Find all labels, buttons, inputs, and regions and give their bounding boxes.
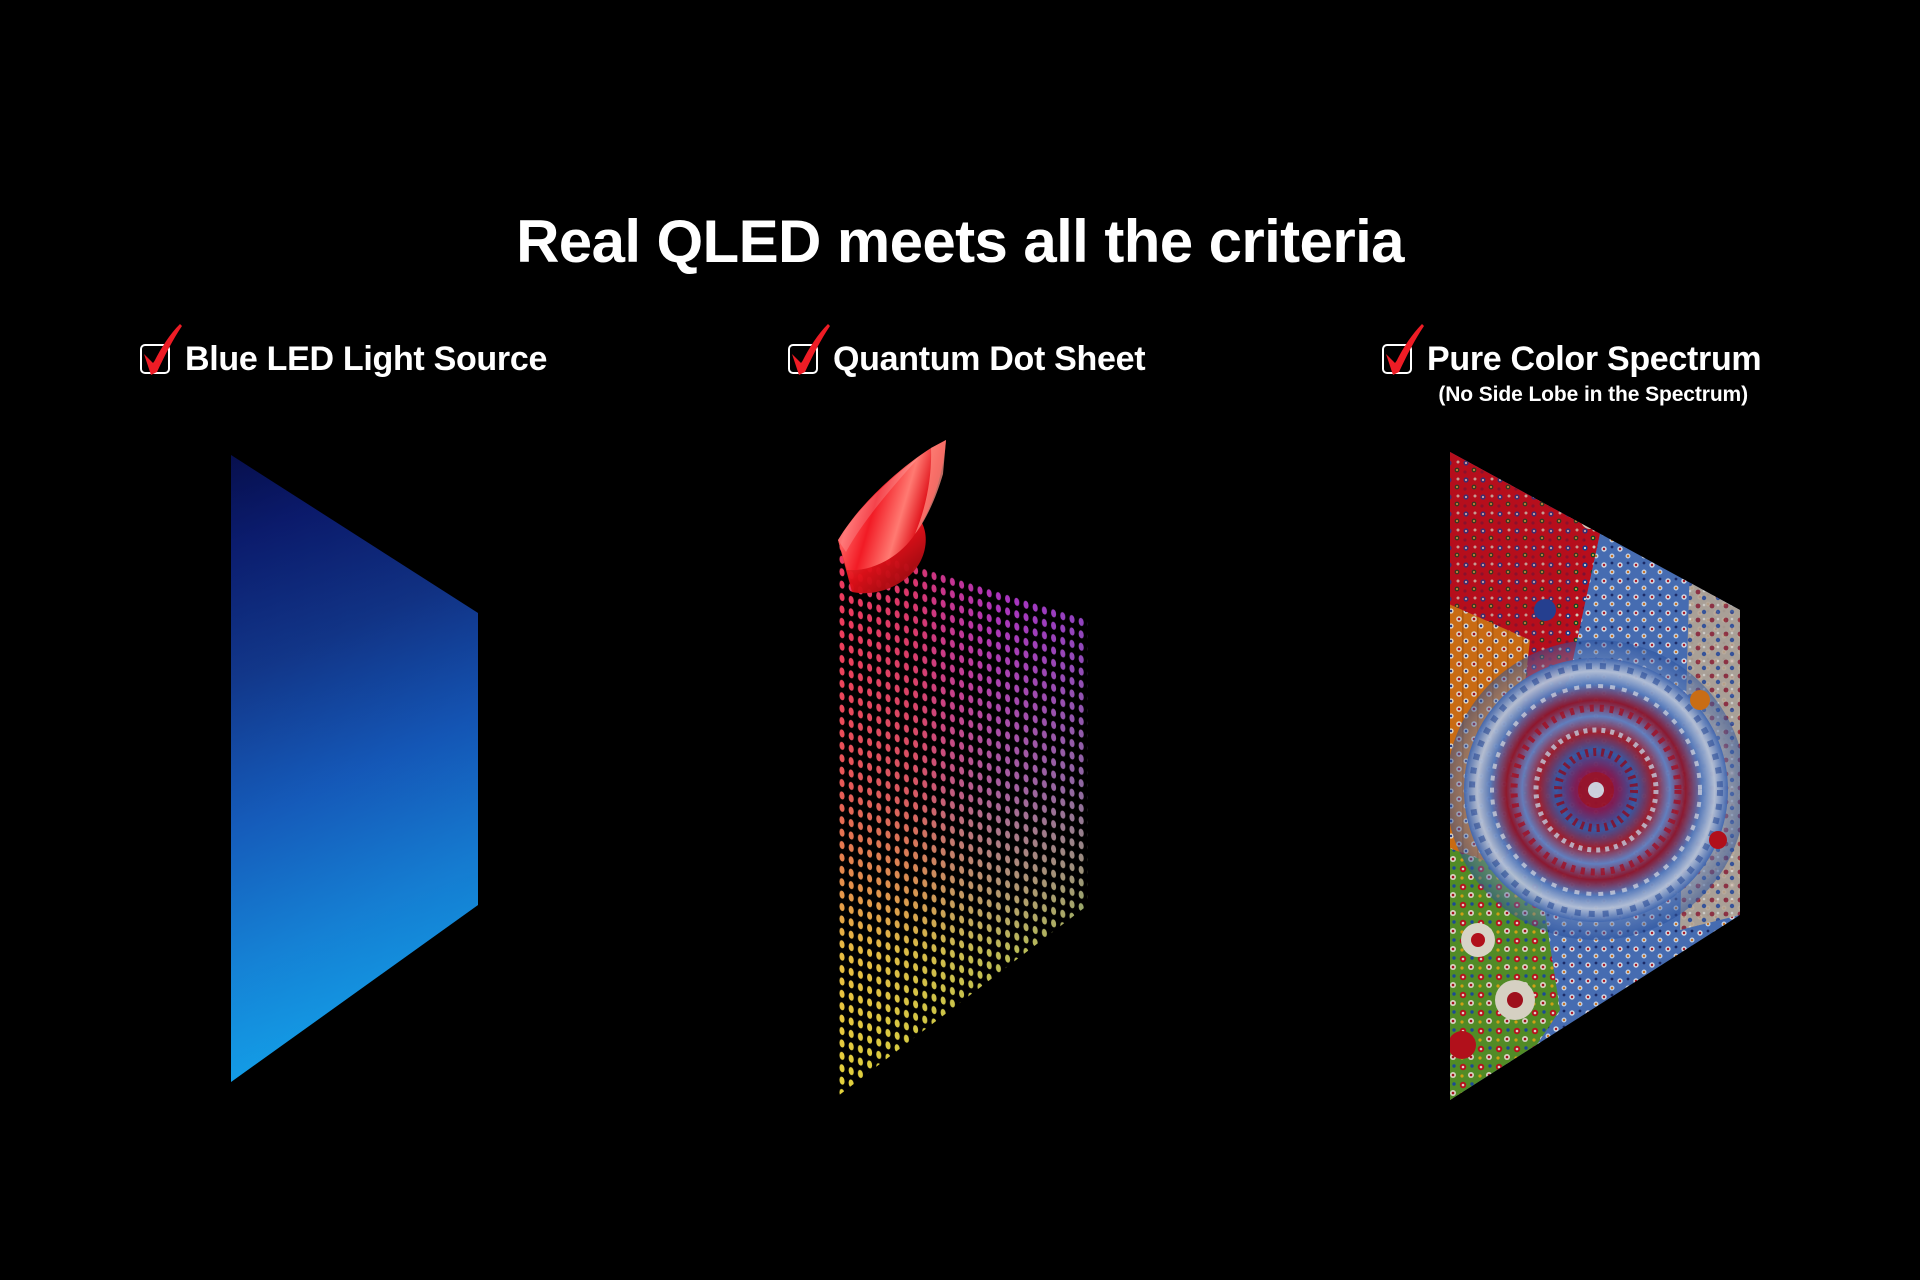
checkbox-blue-led-light-source[interactable] (140, 344, 174, 378)
checkbox-pure-color-spectrum[interactable] (1382, 344, 1416, 378)
feature-label: Pure Color Spectrum (1427, 340, 1761, 378)
red-checkmark-icon (1380, 322, 1426, 380)
feature-sublabel: (No Side Lobe in the Spectrum) (1427, 383, 1761, 407)
pure-color-textile-illustration (0, 0, 1920, 1280)
feature-label: Quantum Dot Sheet (833, 340, 1145, 378)
page-title: Real QLED meets all the criteria (0, 210, 1920, 273)
quantum-dot-sheet-illustration (0, 0, 1920, 1280)
feature-pure-color-spectrum: Pure Color Spectrum (No Side Lobe in the… (1382, 340, 1761, 407)
feature-quantum-dot-sheet: Quantum Dot Sheet (788, 340, 1145, 378)
feature-label: Blue LED Light Source (185, 340, 547, 378)
feature-blue-led-light-source: Blue LED Light Source (140, 340, 547, 378)
checkbox-quantum-dot-sheet[interactable] (788, 344, 822, 378)
red-checkmark-icon (138, 322, 184, 380)
qled-criteria-slide: Real QLED meets all the criteria Blue LE… (0, 0, 1920, 1280)
peeled-corner (838, 440, 946, 593)
red-checkmark-icon (786, 322, 832, 380)
blue-led-panel-illustration (0, 0, 1920, 1280)
